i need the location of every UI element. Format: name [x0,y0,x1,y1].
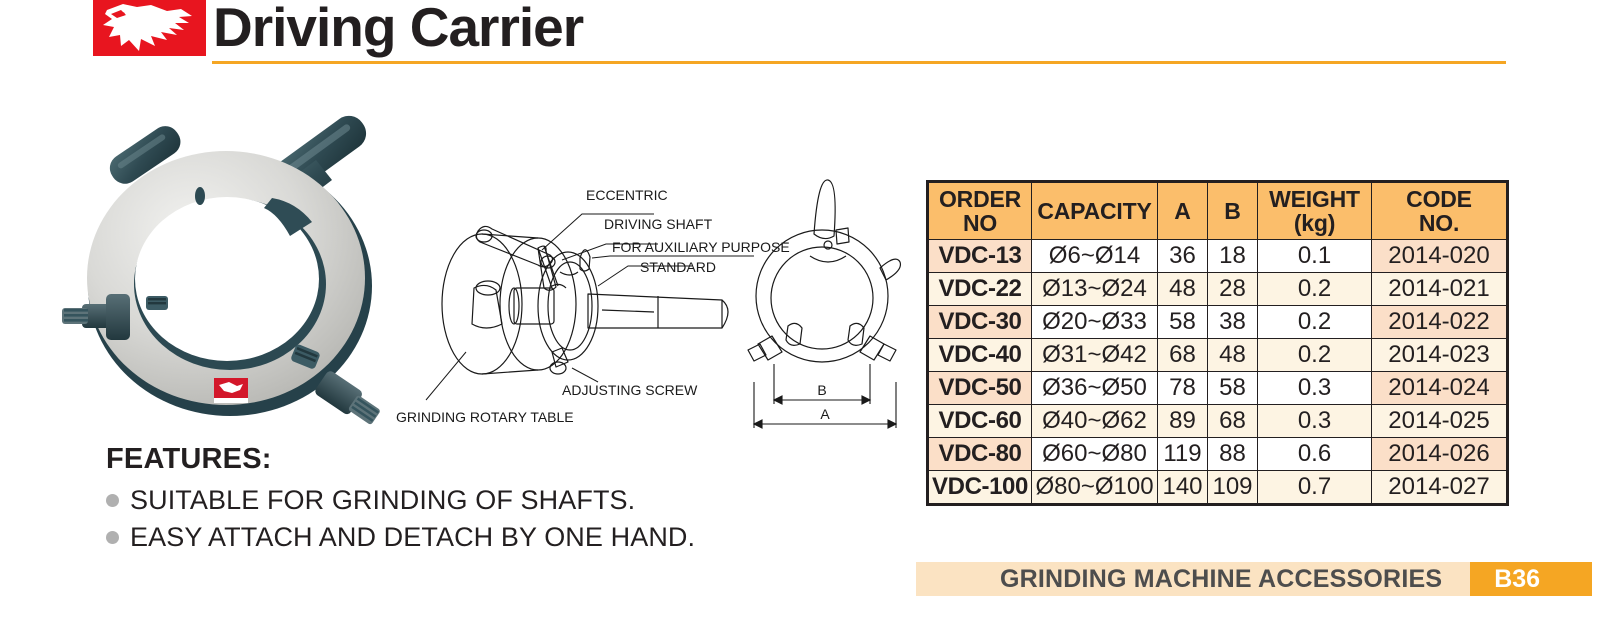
bullet-icon [106,494,119,507]
cell-b: 109 [1208,471,1258,505]
table-row: VDC-50Ø36~Ø5078580.32014-024 [928,372,1508,405]
column-header-order-no: ORDER NO [928,182,1032,240]
cell-order-no: VDC-60 [928,405,1032,438]
cell-code-no: 2014-026 [1372,438,1508,471]
cell-capacity: Ø80~Ø100 [1032,471,1158,505]
features-section: FEATURES: SUITABLE FOR GRINDING OF SHAFT… [106,443,806,559]
feature-list-item: EASY ATTACH AND DETACH BY ONE HAND. [106,522,806,553]
cell-capacity: Ø13~Ø24 [1032,273,1158,306]
eagle-head-logo-icon [93,0,206,56]
page-header: Driving Carrier [0,0,1600,72]
footer-category-label: GRINDING MACHINE ACCESSORIES [916,562,1470,596]
diagram-label-driving-shaft: DRIVING SHAFT [604,216,713,232]
cell-capacity: Ø6~Ø14 [1032,240,1158,273]
table-row: VDC-100Ø80~Ø1001401090.72014-027 [928,471,1508,505]
table-row: VDC-80Ø60~Ø80119880.62014-026 [928,438,1508,471]
cell-capacity: Ø40~Ø62 [1032,405,1158,438]
cell-b: 28 [1208,273,1258,306]
cell-code-no: 2014-024 [1372,372,1508,405]
feature-text: EASY ATTACH AND DETACH BY ONE HAND. [130,522,695,553]
bullet-icon [106,531,119,544]
diagram-label-adjusting-screw: ADJUSTING SCREW [562,382,698,398]
product-photo [40,72,412,444]
cell-order-no: VDC-22 [928,273,1032,306]
spec-table: ORDER NO CAPACITY A B WEIGHT (kg) CODE [926,180,1509,506]
cell-a: 119 [1158,438,1208,471]
table-header-row: ORDER NO CAPACITY A B WEIGHT (kg) CODE [928,182,1508,240]
column-header-b: B [1208,182,1258,240]
cell-b: 18 [1208,240,1258,273]
page-title: Driving Carrier [213,0,583,58]
table-row: VDC-60Ø40~Ø6289680.32014-025 [928,405,1508,438]
cell-a: 140 [1158,471,1208,505]
cell-b: 38 [1208,306,1258,339]
cell-code-no: 2014-027 [1372,471,1508,505]
cell-weight: 0.3 [1258,372,1372,405]
cell-code-no: 2014-025 [1372,405,1508,438]
cell-weight: 0.2 [1258,339,1372,372]
cell-weight: 0.2 [1258,306,1372,339]
cell-a: 58 [1158,306,1208,339]
table-row: VDC-22Ø13~Ø2448280.22014-021 [928,273,1508,306]
cell-b: 68 [1208,405,1258,438]
features-heading: FEATURES: [106,443,806,476]
cell-b: 88 [1208,438,1258,471]
table-row: VDC-40Ø31~Ø4268480.22014-023 [928,339,1508,372]
page-footer: GRINDING MACHINE ACCESSORIES B36 [916,562,1592,596]
cell-code-no: 2014-021 [1372,273,1508,306]
cell-capacity: Ø20~Ø33 [1032,306,1158,339]
cell-order-no: VDC-80 [928,438,1032,471]
cell-capacity: Ø36~Ø50 [1032,372,1158,405]
cell-order-no: VDC-40 [928,339,1032,372]
cell-capacity: Ø60~Ø80 [1032,438,1158,471]
footer-page-number: B36 [1470,562,1592,596]
cell-order-no: VDC-100 [928,471,1032,505]
cell-b: 58 [1208,372,1258,405]
cell-code-no: 2014-023 [1372,339,1508,372]
cell-weight: 0.2 [1258,273,1372,306]
column-header-a: A [1158,182,1208,240]
cell-a: 78 [1158,372,1208,405]
cell-a: 89 [1158,405,1208,438]
cell-a: 48 [1158,273,1208,306]
dimension-diagram: B A [718,168,918,430]
dimension-label-a: A [820,406,830,422]
header-accent-rule [212,61,1506,64]
cell-weight: 0.3 [1258,405,1372,438]
dimension-label-b: B [817,382,826,398]
cell-weight: 0.1 [1258,240,1372,273]
column-header-code-no: CODE NO. [1372,182,1508,240]
table-row: VDC-13Ø6~Ø1436180.12014-020 [928,240,1508,273]
spec-table-container: ORDER NO CAPACITY A B WEIGHT (kg) CODE [926,180,1506,506]
cell-code-no: 2014-022 [1372,306,1508,339]
cell-capacity: Ø31~Ø42 [1032,339,1158,372]
cell-a: 68 [1158,339,1208,372]
cell-a: 36 [1158,240,1208,273]
cell-order-no: VDC-13 [928,240,1032,273]
table-row: VDC-30Ø20~Ø3358380.22014-022 [928,306,1508,339]
cell-b: 48 [1208,339,1258,372]
feature-list-item: SUITABLE FOR GRINDING OF SHAFTS. [106,485,806,516]
diagram-label-rotary-table: GRINDING ROTARY TABLE [396,409,574,425]
cell-order-no: VDC-50 [928,372,1032,405]
column-header-weight: WEIGHT (kg) [1258,182,1372,240]
cell-weight: 0.7 [1258,471,1372,505]
cell-order-no: VDC-30 [928,306,1032,339]
cell-weight: 0.6 [1258,438,1372,471]
diagram-label-standard: STANDARD [640,259,716,275]
feature-text: SUITABLE FOR GRINDING OF SHAFTS. [130,485,635,516]
diagram-label-eccentric: ECCENTRIC [586,187,668,203]
cell-code-no: 2014-020 [1372,240,1508,273]
column-header-capacity: CAPACITY [1032,182,1158,240]
